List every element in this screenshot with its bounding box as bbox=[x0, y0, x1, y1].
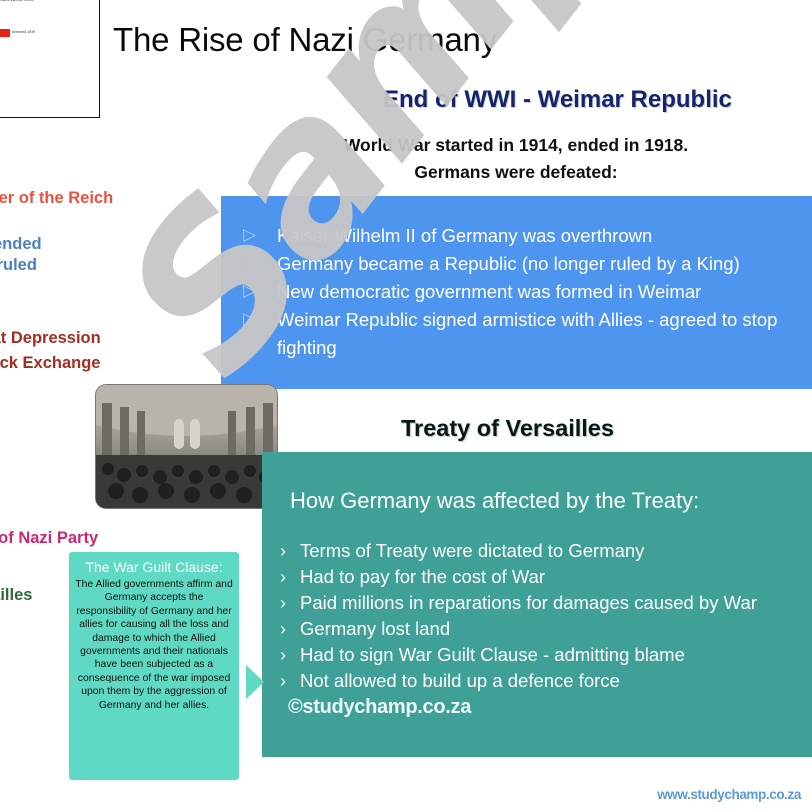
triangle-bullet-icon: ▷ bbox=[243, 226, 261, 244]
treaty-signing-photo bbox=[96, 385, 277, 508]
chevron-bullet-icon: › bbox=[280, 642, 286, 668]
war-guilt-clause-body: The Allied governments affirm and German… bbox=[75, 578, 233, 712]
treaty-bullet-item: ›Had to sign War Guilt Clause - admittin… bbox=[278, 642, 802, 668]
treaty-bullet-text: Paid millions in reparations for damages… bbox=[300, 592, 757, 613]
timeline-fragment: ührer of the Reich bbox=[0, 188, 113, 209]
third-reich-map: Lille Poland Romania Hungary Third Reich… bbox=[0, 0, 100, 118]
wwi-bullet-text: New democratic government was formed in … bbox=[277, 281, 701, 302]
treaty-lead-text: How Germany was affected by the Treaty: bbox=[262, 452, 812, 516]
treaty-bullet-text: Had to sign War Guilt Clause - admitting… bbox=[300, 644, 685, 665]
wwi-bullet-item: ▷New democratic government was formed in… bbox=[231, 278, 802, 306]
triangle-bullet-icon: ▷ bbox=[243, 310, 261, 328]
hall-of-mirrors-illustration bbox=[96, 385, 277, 508]
map-legend-label: Annexed 1939 bbox=[12, 30, 35, 34]
timeline-fragment: reat Depression bbox=[0, 328, 101, 349]
footer-website-url: www.studychamp.co.za bbox=[657, 787, 801, 802]
triangle-bullet-icon: ▷ bbox=[243, 254, 261, 272]
chevron-bullet-icon: › bbox=[280, 668, 286, 694]
heading-treaty-of-versailles: Treaty of Versailles bbox=[401, 415, 614, 442]
wwi-intro-line-2: Germans were defeated: bbox=[220, 159, 812, 185]
wwi-bullet-text: Kaiser Wilhelm II of Germany was overthr… bbox=[277, 225, 652, 246]
treaty-bullet-text: Germany lost land bbox=[300, 618, 450, 639]
timeline-fragment: sailles bbox=[0, 585, 32, 606]
treaty-bullet-item: ›Germany lost land bbox=[278, 616, 802, 642]
heading-end-of-wwi: End of WWI - Weimar Republic bbox=[383, 86, 732, 114]
wwi-bullet-item: ▷Weimar Republic signed armistice with A… bbox=[231, 306, 802, 362]
treaty-bullet-item: ›Paid millions in reparations for damage… bbox=[278, 590, 802, 616]
triangle-bullet-icon: ▷ bbox=[243, 282, 261, 300]
timeline-fragment: er of Nazi Party bbox=[0, 528, 98, 549]
timeline-fragment: blic ended bbox=[0, 234, 42, 255]
slide-canvas: Lille Poland Romania Hungary Third Reich… bbox=[0, 0, 812, 812]
map-legend-swatch bbox=[0, 29, 10, 37]
war-guilt-clause-title: The War Guilt Clause: bbox=[75, 558, 233, 576]
wwi-bullet-text: Weimar Republic signed armistice with Al… bbox=[277, 309, 777, 358]
treaty-bullet-text: Had to pay for the cost of War bbox=[300, 566, 545, 587]
wwi-bullet-item: ▷Germany became a Republic (no longer ru… bbox=[231, 250, 802, 278]
timeline-fragment: zis ruled bbox=[0, 255, 37, 276]
war-guilt-clause-card: The War Guilt Clause: The Allied governm… bbox=[69, 552, 239, 780]
timeline-fragment: tock Exchange bbox=[0, 353, 100, 374]
treaty-bullet-item: ›Not allowed to build up a defence force bbox=[278, 668, 802, 694]
treaty-bullet-text: Not allowed to build up a defence force bbox=[300, 670, 620, 691]
chevron-bullet-icon: › bbox=[280, 538, 286, 564]
chevron-bullet-icon: › bbox=[280, 564, 286, 590]
chevron-bullet-icon: › bbox=[280, 616, 286, 642]
treaty-bullet-text: Terms of Treaty were dictated to Germany bbox=[300, 540, 644, 561]
treaty-bullet-item: ›Terms of Treaty were dictated to German… bbox=[278, 538, 802, 564]
page-title: The Rise of Nazi Germany bbox=[113, 20, 497, 60]
copyright-notice: ©studychamp.co.za bbox=[262, 694, 812, 719]
wwi-bullet-item: ▷Kaiser Wilhelm II of Germany was overth… bbox=[231, 222, 802, 250]
map-legend: Third Reich 1939 Annexed 1939 bbox=[0, 0, 43, 115]
wwi-bullet-list: ▷Kaiser Wilhelm II of Germany was overth… bbox=[221, 196, 812, 362]
wwi-bullet-panel: ▷Kaiser Wilhelm II of Germany was overth… bbox=[221, 196, 812, 389]
wwi-intro-line-1: World War started in 1914, ended in 1918… bbox=[220, 132, 812, 158]
treaty-pointer-tab bbox=[246, 665, 264, 699]
chevron-bullet-icon: › bbox=[280, 590, 286, 616]
treaty-bullet-list: ›Terms of Treaty were dictated to German… bbox=[262, 516, 812, 694]
wwi-bullet-text: Germany became a Republic (no longer rul… bbox=[277, 253, 740, 274]
map-legend-title: Third Reich 1939 bbox=[0, 0, 40, 4]
treaty-bullet-item: ›Had to pay for the cost of War bbox=[278, 564, 802, 590]
treaty-panel: How Germany was affected by the Treaty: … bbox=[262, 452, 812, 757]
